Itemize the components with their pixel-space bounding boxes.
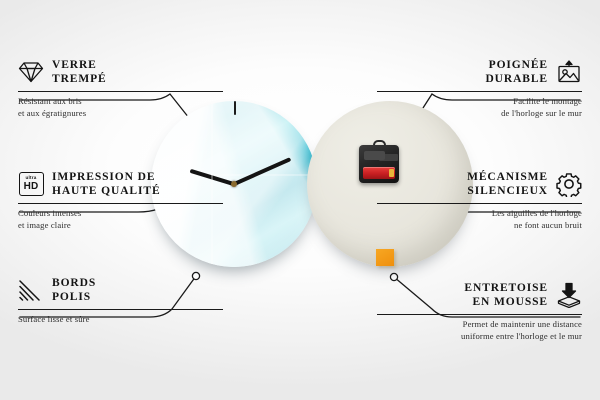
polished-edges-icon — [18, 277, 44, 303]
feature-description: Couleurs intenses et image claire — [18, 208, 223, 231]
feature-entretoise-en-mousse: ENTRETOISE EN MOUSSE Permet de maintenir… — [377, 281, 582, 342]
infographic-canvas: VERRE TREMPÉ Résistant aux bris et aux é… — [0, 0, 600, 400]
feature-bords-polis: BORDS POLIS Surface lisse et sûre — [18, 276, 223, 326]
foam-spacer-icon — [556, 282, 582, 308]
feature-poignee-durable: POIGNÉE DURABLE Facilite le montage de — [377, 58, 582, 119]
feature-title: POIGNÉE DURABLE — [485, 58, 548, 86]
feature-description: Permet de maintenir une distance uniform… — [377, 319, 582, 342]
feature-title: IMPRESSION DE HAUTE QUALITÉ — [52, 170, 161, 198]
title-rule — [18, 309, 223, 310]
feature-description: Les aiguilles de l'horloge ne font aucun… — [377, 208, 582, 231]
feature-title: ENTRETOISE EN MOUSSE — [464, 281, 548, 309]
ultra-hd-icon: ultra HD — [18, 171, 44, 197]
feature-description: Facilite le montage de l'horloge sur le … — [377, 96, 582, 119]
feature-title: MÉCANISME SILENCIEUX — [467, 170, 548, 198]
title-rule — [377, 203, 582, 204]
mechanism-detail — [364, 151, 385, 160]
title-rule — [18, 91, 223, 92]
title-rule — [377, 314, 582, 315]
title-rule — [18, 203, 223, 204]
picture-hanger-icon — [556, 59, 582, 85]
feature-title: VERRE TREMPÉ — [52, 58, 107, 86]
title-rule — [377, 91, 582, 92]
feature-verre-trempe: VERRE TREMPÉ Résistant aux bris et aux é… — [18, 58, 223, 119]
feature-title: BORDS POLIS — [52, 276, 96, 304]
diamond-icon — [18, 59, 44, 85]
feature-description: Résistant aux bris et aux égratignures — [18, 96, 223, 119]
feature-impression-haute-qualite: ultra HD IMPRESSION DE HAUTE QUALITÉ Cou… — [18, 170, 223, 231]
foam-spacer — [376, 249, 394, 266]
clock-pivot — [231, 181, 237, 187]
feature-mecanisme-silencieux: MÉCANISME SILENCIEUX Les aiguilles de l'… — [377, 170, 582, 231]
feature-description: Surface lisse et sûre — [18, 314, 223, 325]
gear-icon — [556, 171, 582, 197]
connector-dot-entretoise — [390, 273, 397, 280]
